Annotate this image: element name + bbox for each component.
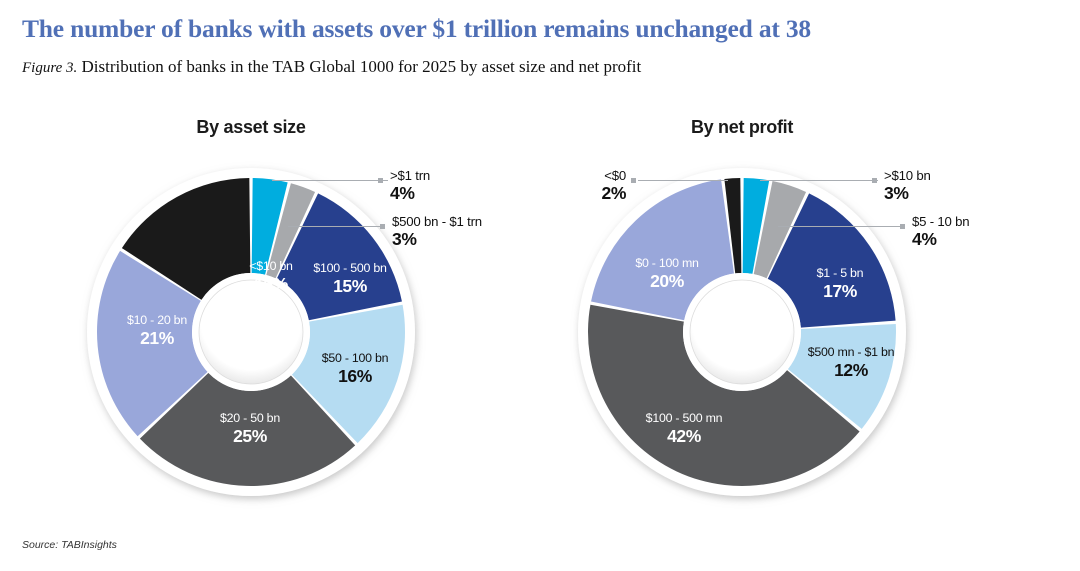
figure-subtitle-text: Distribution of banks in the TAB Global …	[82, 57, 642, 76]
callout-value-gt-1-trn: 4%	[390, 183, 430, 204]
leader-line-lt-0	[638, 180, 728, 181]
callout-name-5-10-bn: $5 - 10 bn	[912, 214, 969, 229]
callout-500bn-1trn: $500 bn - $1 trn 3%	[392, 214, 482, 250]
donut-svg-net-profit	[576, 166, 908, 498]
leader-line-gt-1-trn	[272, 180, 388, 181]
chart-title-by-asset-size: By asset size	[101, 117, 401, 138]
slice-value-20-50-bn: 25%	[180, 426, 320, 447]
callout-value-500bn-1trn: 3%	[392, 229, 482, 250]
leader-line-gt-10-bn	[760, 180, 878, 181]
donut-chart-by-asset-size: <$10 bn 16% $100 - 500 bn 15% $50 - 100 …	[85, 166, 417, 498]
slice-value-1-5-bn: 17%	[770, 281, 910, 302]
leader-dot-5-10-bn	[900, 224, 905, 229]
donut-chart-by-net-profit: $1 - 5 bn 17% $500 mn - $1 bn 12% $100 -…	[576, 166, 908, 498]
callout-lt-0: <$0 2%	[500, 168, 626, 204]
slice-label-10-20-bn: $10 - 20 bn	[87, 313, 227, 327]
page-title: The number of banks with assets over $1 …	[22, 14, 1062, 44]
callout-gt-10-bn: >$10 bn 3%	[884, 168, 931, 204]
slice-value-100-500-mn: 42%	[604, 426, 764, 447]
leader-dot-gt-10-bn	[872, 178, 877, 183]
callout-value-gt-10-bn: 3%	[884, 183, 931, 204]
slice-label-100-500-mn: $100 - 500 mn	[604, 411, 764, 425]
slice-value-500mn-1bn: 12%	[772, 360, 930, 381]
slice-value-100-500-bn: 15%	[280, 276, 420, 297]
source-note: Source: TABInsights	[22, 539, 117, 551]
figure-number: Figure 3.	[22, 60, 77, 76]
callout-name-500bn-1trn: $500 bn - $1 trn	[392, 214, 482, 229]
slice-label-500mn-1bn: $500 mn - $1 bn	[772, 345, 930, 359]
slice-label-20-50-bn: $20 - 50 bn	[180, 411, 320, 425]
slice-value-10-20-bn: 21%	[87, 328, 227, 349]
slice-label-0-100-mn: $0 - 100 mn	[597, 256, 737, 270]
callout-gt-1-trn: >$1 trn 4%	[390, 168, 430, 204]
callout-name-gt-10-bn: >$10 bn	[884, 168, 931, 183]
callout-name-lt-0: <$0	[500, 168, 626, 183]
callout-value-lt-0: 2%	[500, 183, 626, 204]
chart-title-by-net-profit: By net profit	[592, 117, 892, 138]
leader-dot-500bn-1trn	[380, 224, 385, 229]
figure-subtitle: Figure 3. Distribution of banks in the T…	[22, 57, 1062, 77]
slice-label-50-100-bn: $50 - 100 bn	[285, 351, 425, 365]
slice-value-50-100-bn: 16%	[285, 366, 425, 387]
slice-label-100-500-bn: $100 - 500 bn	[280, 261, 420, 275]
leader-dot-lt-0	[631, 178, 636, 183]
callout-value-5-10-bn: 4%	[912, 229, 969, 250]
leader-line-5-10-bn	[778, 226, 902, 227]
callout-name-gt-1-trn: >$1 trn	[390, 168, 430, 183]
leader-dot-gt-1-trn	[378, 178, 383, 183]
leader-line-500bn-1trn	[288, 226, 382, 227]
slice-label-1-5-bn: $1 - 5 bn	[770, 266, 910, 280]
slice-value-0-100-mn: 20%	[597, 271, 737, 292]
callout-5-10-bn: $5 - 10 bn 4%	[912, 214, 969, 250]
